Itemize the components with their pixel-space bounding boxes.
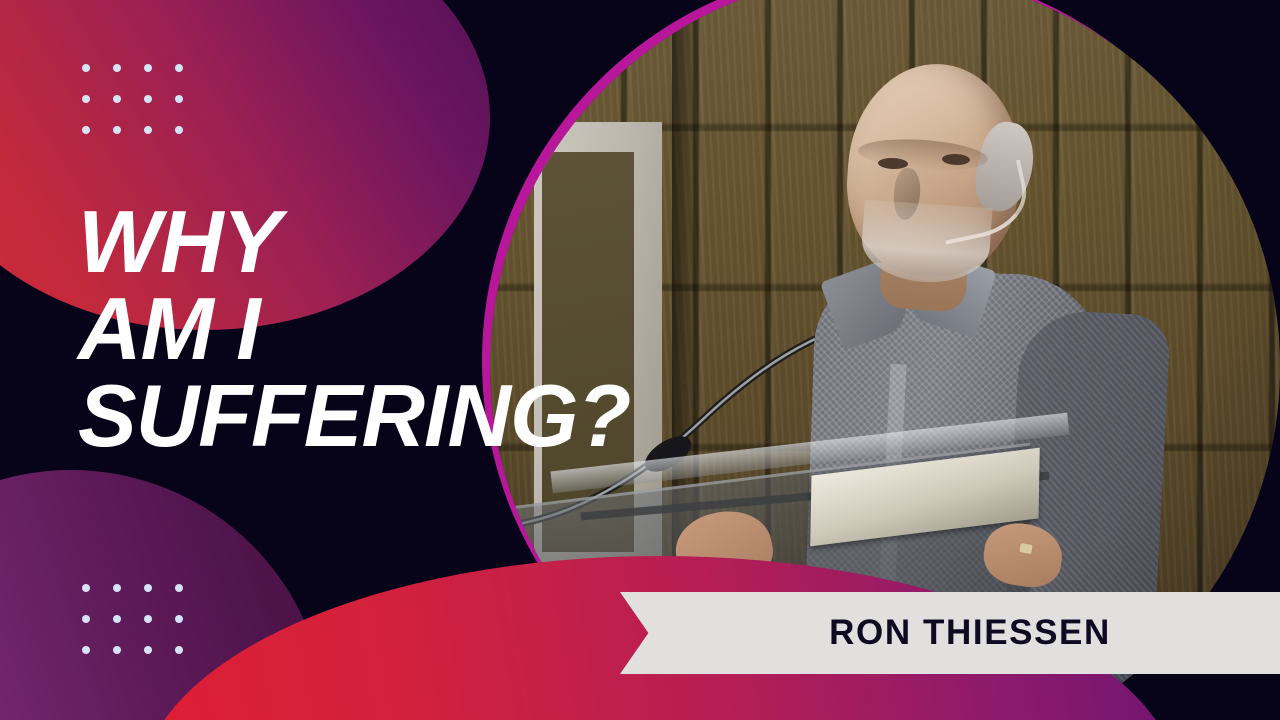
dot <box>144 615 152 623</box>
title-card: WHY AM I SUFFERING? RON THIESSEN <box>0 0 1280 720</box>
dot <box>113 615 121 623</box>
dot <box>175 646 183 654</box>
dot <box>82 615 90 623</box>
dot <box>144 64 152 72</box>
dot <box>113 126 121 134</box>
dot <box>82 64 90 72</box>
dot <box>144 95 152 103</box>
title-line-1: WHY <box>78 198 698 285</box>
title-line-2: AM I <box>78 285 698 372</box>
title-line-3: SUFFERING? <box>78 372 698 459</box>
dot <box>144 646 152 654</box>
speaker-name: RON THIESSEN <box>829 613 1111 653</box>
dot-grid-top-icon <box>82 64 183 134</box>
dot <box>175 126 183 134</box>
dot <box>175 615 183 623</box>
dot <box>82 126 90 134</box>
dot <box>113 95 121 103</box>
dot <box>113 64 121 72</box>
dot <box>113 584 121 592</box>
dot-grid-bottom-icon <box>82 584 183 654</box>
dot <box>144 126 152 134</box>
dot <box>113 646 121 654</box>
dot <box>82 584 90 592</box>
dot <box>82 646 90 654</box>
dot <box>175 584 183 592</box>
page-title: WHY AM I SUFFERING? <box>78 198 698 459</box>
dot <box>82 95 90 103</box>
dot <box>175 64 183 72</box>
speaker-name-banner: RON THIESSEN <box>620 592 1280 674</box>
dot <box>144 584 152 592</box>
dot <box>175 95 183 103</box>
wedding-ring <box>1019 543 1032 554</box>
